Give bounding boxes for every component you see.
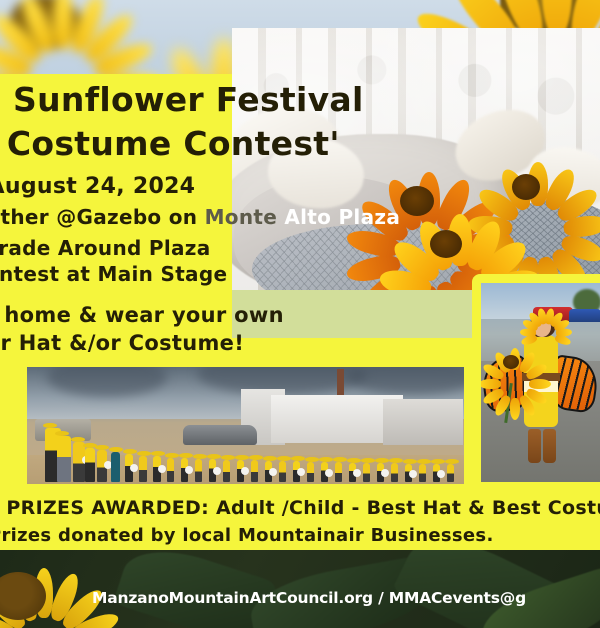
sunflower-hat bbox=[347, 458, 361, 463]
parade-participant bbox=[447, 464, 454, 482]
petal bbox=[510, 398, 520, 420]
sunflower-hat bbox=[375, 458, 389, 463]
sunflower-hat bbox=[417, 459, 431, 464]
sunflower-hat bbox=[235, 455, 249, 460]
contest-line: Contest at Main Stage bbox=[0, 262, 227, 286]
held-sunflower-icon bbox=[483, 337, 537, 387]
parade-participant bbox=[237, 460, 244, 482]
petal bbox=[481, 379, 501, 389]
parade-participant bbox=[377, 463, 384, 482]
gather-plaza: Alto Plaza bbox=[277, 205, 400, 229]
parade-line: Parade Around Plaza bbox=[0, 236, 211, 260]
sunflower-hat bbox=[123, 449, 137, 454]
parade-participant bbox=[209, 459, 216, 482]
headline-line-2: & Costume Contest' bbox=[0, 124, 340, 163]
sunflower-hat bbox=[361, 458, 375, 463]
event-date: y, August 24, 2024 bbox=[0, 174, 195, 199]
parade-participant bbox=[153, 456, 161, 482]
boot bbox=[528, 429, 541, 463]
sunflower-hat bbox=[43, 423, 57, 428]
parade-participant bbox=[363, 463, 370, 482]
parade-participant bbox=[73, 442, 85, 482]
flower-center bbox=[503, 355, 519, 369]
parade-participant bbox=[391, 463, 398, 482]
parade-participant bbox=[111, 452, 120, 482]
left-yellow-edge bbox=[0, 360, 20, 484]
building bbox=[383, 399, 463, 445]
footer-contact[interactable]: ManzanoMountainArtCouncil.org / MMACeven… bbox=[92, 589, 526, 607]
sunflower-hat bbox=[179, 453, 193, 458]
sunflower-parade-group-photo bbox=[27, 367, 464, 484]
parade-participant bbox=[405, 464, 412, 482]
parked-car bbox=[183, 425, 257, 445]
parade-participant bbox=[181, 458, 188, 482]
parade-participant bbox=[195, 459, 202, 482]
sunflower-hat bbox=[333, 457, 347, 462]
paper-plate bbox=[325, 469, 333, 477]
parade-participant bbox=[321, 462, 328, 482]
sunflower-hat bbox=[403, 459, 417, 464]
parade-participant bbox=[139, 456, 147, 482]
parade-participant bbox=[335, 462, 342, 482]
sunflower-hat bbox=[221, 455, 235, 460]
sunflower-festival-poster: 4 Sunflower Festival & Costume Contest' … bbox=[0, 0, 600, 628]
sunflower-hat bbox=[165, 453, 179, 458]
sunflower-hat bbox=[431, 459, 445, 464]
sunflower-hat bbox=[249, 455, 263, 460]
instructions-line-2: ver Hat &/or Costume! bbox=[0, 331, 244, 355]
parade-participant bbox=[167, 458, 174, 482]
parade-participant bbox=[293, 461, 300, 482]
sunflower-hat bbox=[137, 451, 151, 456]
sunflower-hat bbox=[207, 454, 221, 459]
petal bbox=[53, 0, 73, 50]
parade-participant bbox=[85, 448, 95, 482]
sunflower-hat bbox=[55, 431, 69, 436]
parade-participant bbox=[251, 460, 258, 482]
parade-participant bbox=[265, 461, 272, 482]
sunflower-hat bbox=[95, 445, 109, 450]
sunflower-hat bbox=[305, 457, 319, 462]
headline-line-1: 4 Sunflower Festival bbox=[0, 80, 364, 119]
parade-participant bbox=[349, 463, 356, 482]
website-link[interactable]: ManzanoMountainArtCouncil.org bbox=[92, 589, 373, 607]
sunflower-hat bbox=[291, 456, 305, 461]
paper-plate bbox=[130, 464, 138, 472]
sunflower-butterfly-costume-photo bbox=[481, 283, 600, 482]
sunflower-hat bbox=[389, 458, 403, 463]
sunflower-hat bbox=[277, 456, 291, 461]
parade-participant bbox=[419, 464, 426, 482]
gather-prefix: Gather @Gazebo on bbox=[0, 205, 205, 229]
prizes-line-1: 4 PRIZES AWARDED: Adult /Child - Best Ha… bbox=[0, 497, 600, 519]
gather-location-line: Gather @Gazebo on Monte Alto Plaza bbox=[0, 205, 400, 229]
instructions-line-1: at home & wear your own bbox=[0, 303, 284, 327]
sunflower-hat bbox=[193, 454, 207, 459]
parade-participant bbox=[279, 461, 286, 482]
parade-participant bbox=[223, 460, 230, 482]
parade-participant bbox=[97, 450, 107, 482]
flower-center bbox=[430, 230, 462, 258]
sunflower-hat bbox=[319, 457, 333, 462]
sunflower-headdress-icon bbox=[523, 305, 561, 327]
paper-plate bbox=[158, 465, 166, 473]
sunflower-hat bbox=[445, 459, 459, 464]
vendor-canopy bbox=[569, 309, 600, 322]
sunflower-hat bbox=[151, 451, 165, 456]
gather-city: Monte bbox=[205, 205, 278, 229]
petal bbox=[529, 379, 551, 389]
boot bbox=[543, 429, 556, 463]
parade-participant bbox=[433, 464, 440, 482]
separator: / bbox=[378, 589, 383, 607]
sunflower-hat bbox=[71, 437, 85, 442]
sunflower-hat bbox=[109, 447, 123, 452]
email-link[interactable]: MMACevents@g bbox=[389, 589, 526, 607]
parade-participant bbox=[57, 436, 71, 482]
sunflower-hat bbox=[263, 456, 277, 461]
parade-participant bbox=[125, 454, 133, 482]
paper-plate bbox=[213, 467, 221, 475]
prizes-line-2: Prizes donated by local Mountainair Busi… bbox=[0, 525, 494, 546]
parade-participant bbox=[307, 462, 314, 482]
